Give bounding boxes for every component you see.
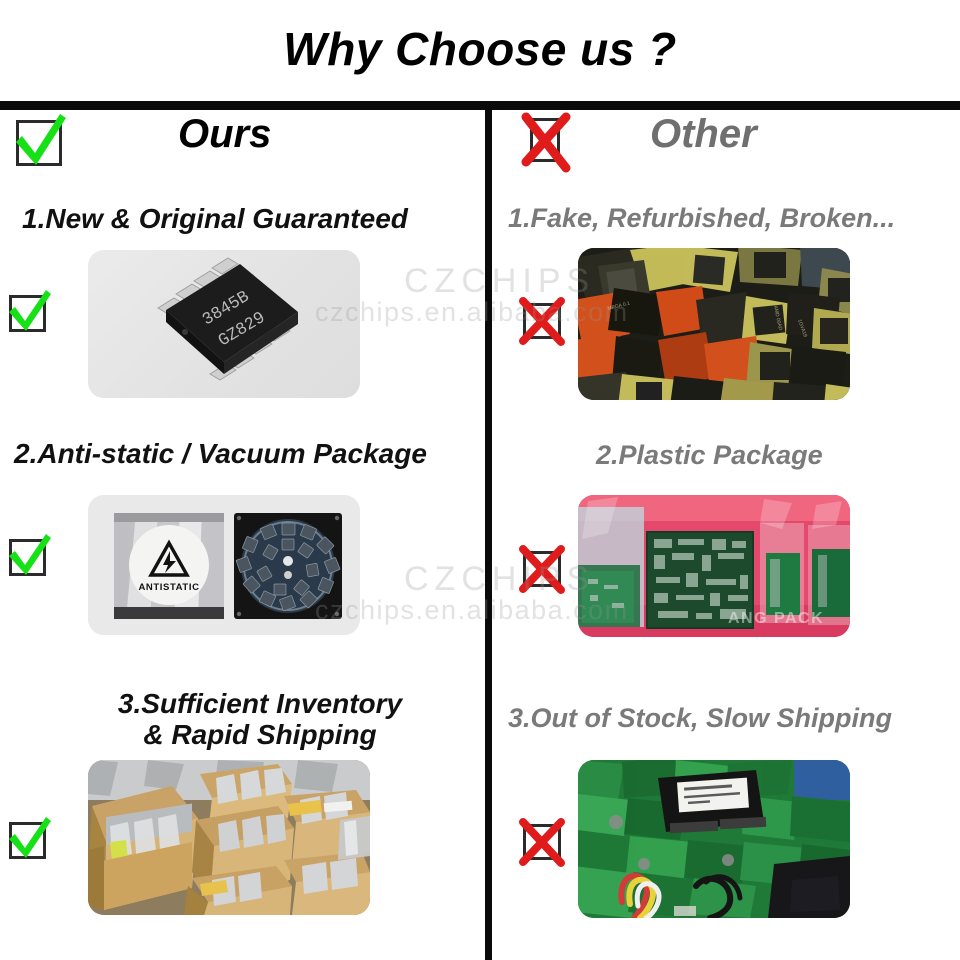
check-mark-icon-row-3 <box>4 815 52 863</box>
row-label-other-3: 3.Out of Stock, Slow Shipping <box>508 703 960 733</box>
check-mark-icon-row-1 <box>4 288 52 336</box>
row-label-ours-1: 1.New & Original Guaranteed <box>22 203 472 234</box>
photo-other-2: ANG PACK <box>578 495 850 637</box>
photo-other-1: MPGA 0.1 AMD 00AD 1GVA19 <box>578 248 850 400</box>
svg-text:ANTISTATIC: ANTISTATIC <box>138 582 199 593</box>
check-mark-icon-row-2 <box>4 532 52 580</box>
photo-ours-2: ANTISTATIC <box>88 495 360 635</box>
cross-mark-icon-row-1 <box>518 297 566 345</box>
watermark-brand-2: CZCHIPS <box>404 560 595 599</box>
photo-ours-3 <box>88 760 370 915</box>
photo-other-3 <box>578 760 850 918</box>
row-label-ours-3: 3.Sufficient Inventory & Rapid Shipping <box>60 688 460 751</box>
page-title: Why Choose us ? <box>0 22 960 76</box>
cross-mark-icon-row-2 <box>518 545 566 593</box>
comparison-infographic: Why Choose us ? Ours Other 1.New & Origi… <box>0 0 960 960</box>
column-header-other: Other <box>650 112 757 157</box>
header-divider <box>0 101 960 110</box>
check-mark-icon-header <box>8 110 70 172</box>
row-label-other-2: 2.Plastic Package <box>596 440 956 470</box>
photo-ours-1: 3845B GZ829 <box>88 250 360 398</box>
svg-text:ANG PACK: ANG PACK <box>728 610 824 627</box>
cross-mark-icon-header <box>520 112 576 168</box>
watermark-brand-1: CZCHIPS <box>404 262 595 301</box>
column-divider <box>485 110 492 960</box>
column-header-ours: Ours <box>178 112 271 157</box>
cross-mark-icon-row-3 <box>518 818 566 866</box>
row-label-other-1: 1.Fake, Refurbished, Broken... <box>508 203 958 233</box>
row-label-ours-2: 2.Anti-static / Vacuum Package <box>14 438 474 469</box>
